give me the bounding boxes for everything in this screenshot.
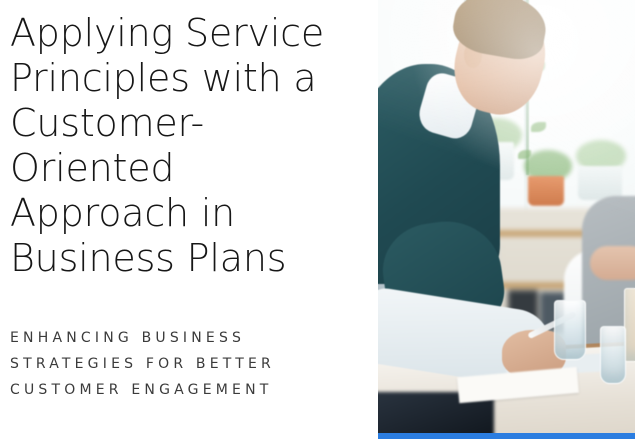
title-slide: Applying Service Principles with a Custo… (0, 0, 635, 439)
water-glass (554, 300, 586, 360)
text-panel: Applying Service Principles with a Custo… (0, 0, 378, 439)
page-subtitle: Enhancing Business Strategies for Better… (10, 325, 360, 403)
blue-accent-bar (378, 433, 635, 439)
photo-illustration (378, 0, 635, 439)
terracotta-plant-pot (528, 176, 564, 206)
hero-photo (378, 0, 635, 439)
water-glass (600, 326, 626, 384)
page-title: Applying Service Principles with a Custo… (10, 11, 350, 281)
white-plant-pot (578, 166, 622, 200)
colleague-forearm (590, 246, 635, 280)
